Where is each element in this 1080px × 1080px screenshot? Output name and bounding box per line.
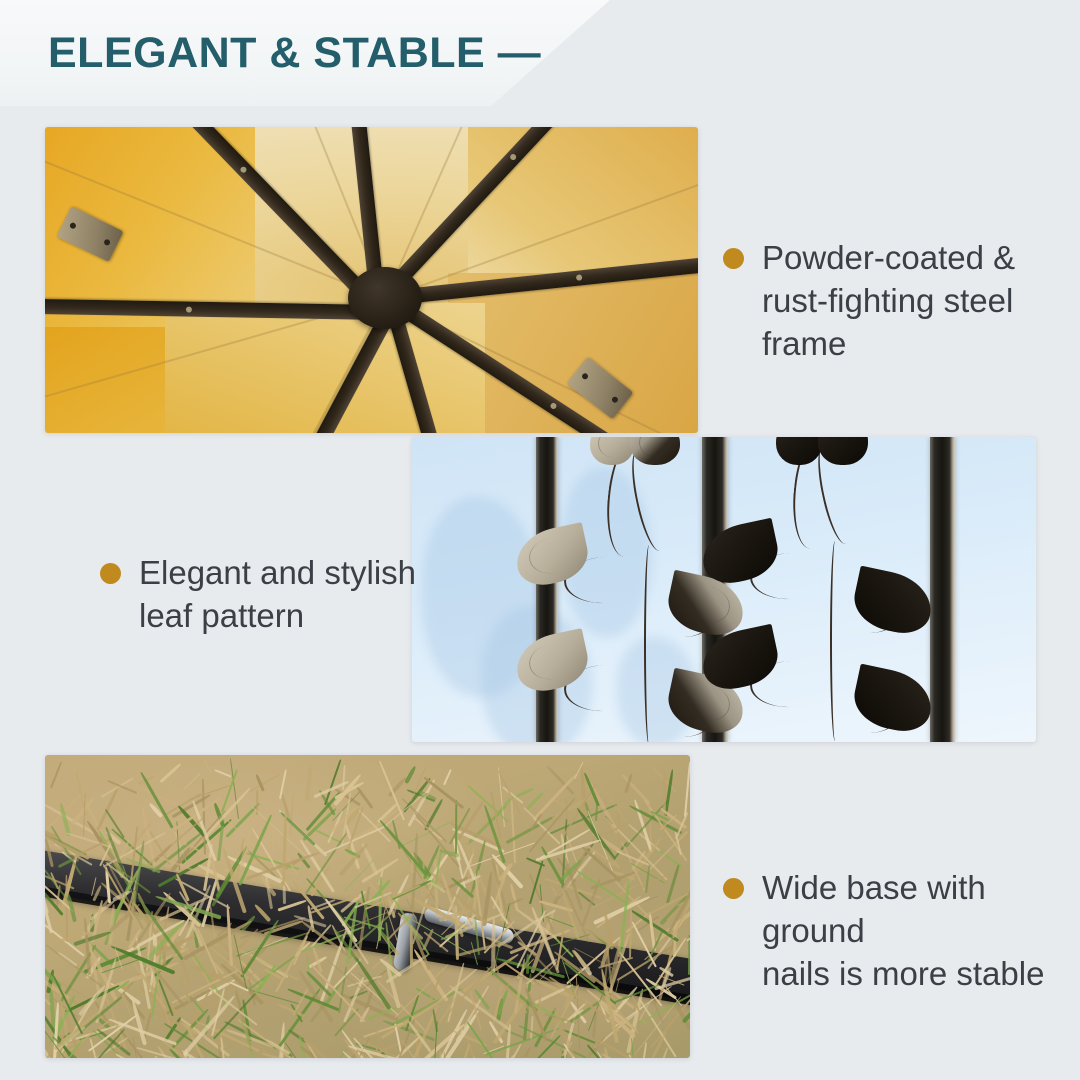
canopy-center-hub	[348, 267, 422, 329]
grass-blade	[410, 925, 413, 967]
grass-blade	[662, 770, 665, 830]
feature-text: Elegant and stylish leaf pattern	[139, 551, 416, 637]
feature-bullet-leaf-pattern: Elegant and stylish leaf pattern	[100, 551, 416, 637]
page-title: ELEGANT & STABLE —	[48, 29, 541, 78]
bullet-dot-icon	[100, 563, 121, 584]
leaf-pattern-panel-photo	[412, 437, 1036, 742]
feature-text: Wide base with ground nails is more stab…	[762, 866, 1080, 995]
bullet-dot-icon	[723, 878, 744, 899]
feature-bullet-wide-base: Wide base with ground nails is more stab…	[723, 866, 1080, 995]
feature-text: Powder-coated & rust-fighting steel fram…	[762, 236, 1080, 365]
panel-post	[536, 437, 558, 742]
infographic-page: ELEGANT & STABLE —	[0, 0, 1080, 1080]
panel-post	[930, 437, 955, 742]
gazebo-canopy-underside-photo	[45, 127, 698, 433]
feature-bullet-powder-coated-frame: Powder-coated & rust-fighting steel fram…	[723, 236, 1080, 365]
base-plate-ground-nail-photo	[45, 755, 690, 1058]
bullet-dot-icon	[723, 248, 744, 269]
